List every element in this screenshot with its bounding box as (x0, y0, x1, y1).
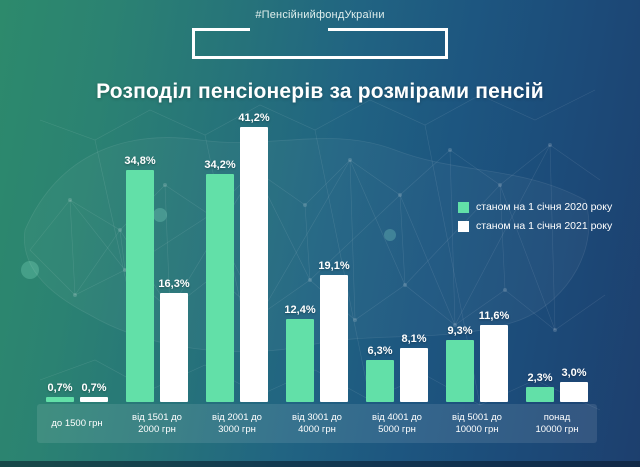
bar-item: 12,4% (286, 110, 314, 402)
bar-item: 34,8% (126, 110, 154, 402)
bar-value-label: 11,6% (479, 310, 510, 322)
bar (526, 387, 554, 402)
bar (446, 340, 474, 402)
bar-value-label: 3,0% (561, 367, 586, 379)
bar-value-label: 0,7% (81, 382, 106, 394)
bar-item: 3,0% (560, 110, 588, 402)
bar-item: 16,3% (160, 110, 188, 402)
bar-group: 2,3%3,0% (517, 110, 597, 402)
bar-group: 0,7%0,7% (37, 110, 117, 402)
bar-item: 0,7% (80, 110, 108, 402)
category-label: від 5001 до 10000 грн (437, 404, 517, 443)
bar-item: 2,3% (526, 110, 554, 402)
bar-item: 34,2% (206, 110, 234, 402)
bar (240, 127, 268, 402)
bar-value-label: 8,1% (401, 333, 426, 345)
bar-item: 6,3% (366, 110, 394, 402)
bar-value-label: 0,7% (47, 382, 72, 394)
category-label: до 1500 грн (37, 404, 117, 443)
bar (126, 170, 154, 402)
bar-value-label: 34,2% (204, 159, 235, 171)
bar (160, 293, 188, 402)
bar-item: 11,6% (480, 110, 508, 402)
bar (286, 319, 314, 402)
bar-value-label: 12,4% (284, 304, 315, 316)
infographic-poster: #ПенсійнийфондУкраїни Розподіл пенсіонер… (0, 0, 640, 467)
bar-value-label: 19,1% (318, 260, 349, 272)
bar-value-label: 6,3% (367, 345, 392, 357)
bar-item: 8,1% (400, 110, 428, 402)
bar-value-label: 2,3% (527, 372, 552, 384)
bar-value-label: 16,3% (158, 278, 189, 290)
bar (480, 325, 508, 402)
bar-group: 34,2%41,2% (197, 110, 277, 402)
bar-value-label: 9,3% (447, 325, 472, 337)
bar-group: 12,4%19,1% (277, 110, 357, 402)
bar-chart-plot: 0,7%0,7%34,8%16,3%34,2%41,2%12,4%19,1%6,… (37, 110, 597, 402)
bar-group: 9,3%11,6% (437, 110, 517, 402)
bar (560, 382, 588, 402)
logo-placeholder-frame (192, 31, 448, 59)
bar (366, 360, 394, 402)
bar-item: 19,1% (320, 110, 348, 402)
bar-value-label: 41,2% (238, 112, 269, 124)
bar-group: 6,3%8,1% (357, 110, 437, 402)
category-label: від 1501 до 2000 грн (117, 404, 197, 443)
bottom-strip (0, 461, 640, 467)
bar (46, 397, 74, 402)
bar (80, 397, 108, 402)
category-label: від 4001 до 5000 грн (357, 404, 437, 443)
page-title: Розподіл пенсіонерів за розмірами пенсій (0, 80, 640, 104)
bar (320, 275, 348, 402)
bar (400, 348, 428, 402)
category-label: від 2001 до 3000 грн (197, 404, 277, 443)
hashtag-text: #ПенсійнийфондУкраїни (0, 9, 640, 21)
category-label: від 3001 до 4000 грн (277, 404, 357, 443)
bar-item: 9,3% (446, 110, 474, 402)
bar-group: 34,8%16,3% (117, 110, 197, 402)
bar-value-label: 34,8% (124, 155, 155, 167)
category-axis-band: до 1500 грнвід 1501 до 2000 грнвід 2001 … (37, 404, 597, 443)
bar-item: 0,7% (46, 110, 74, 402)
category-label: понад 10000 грн (517, 404, 597, 443)
bar-item: 41,2% (240, 110, 268, 402)
bar (206, 174, 234, 402)
